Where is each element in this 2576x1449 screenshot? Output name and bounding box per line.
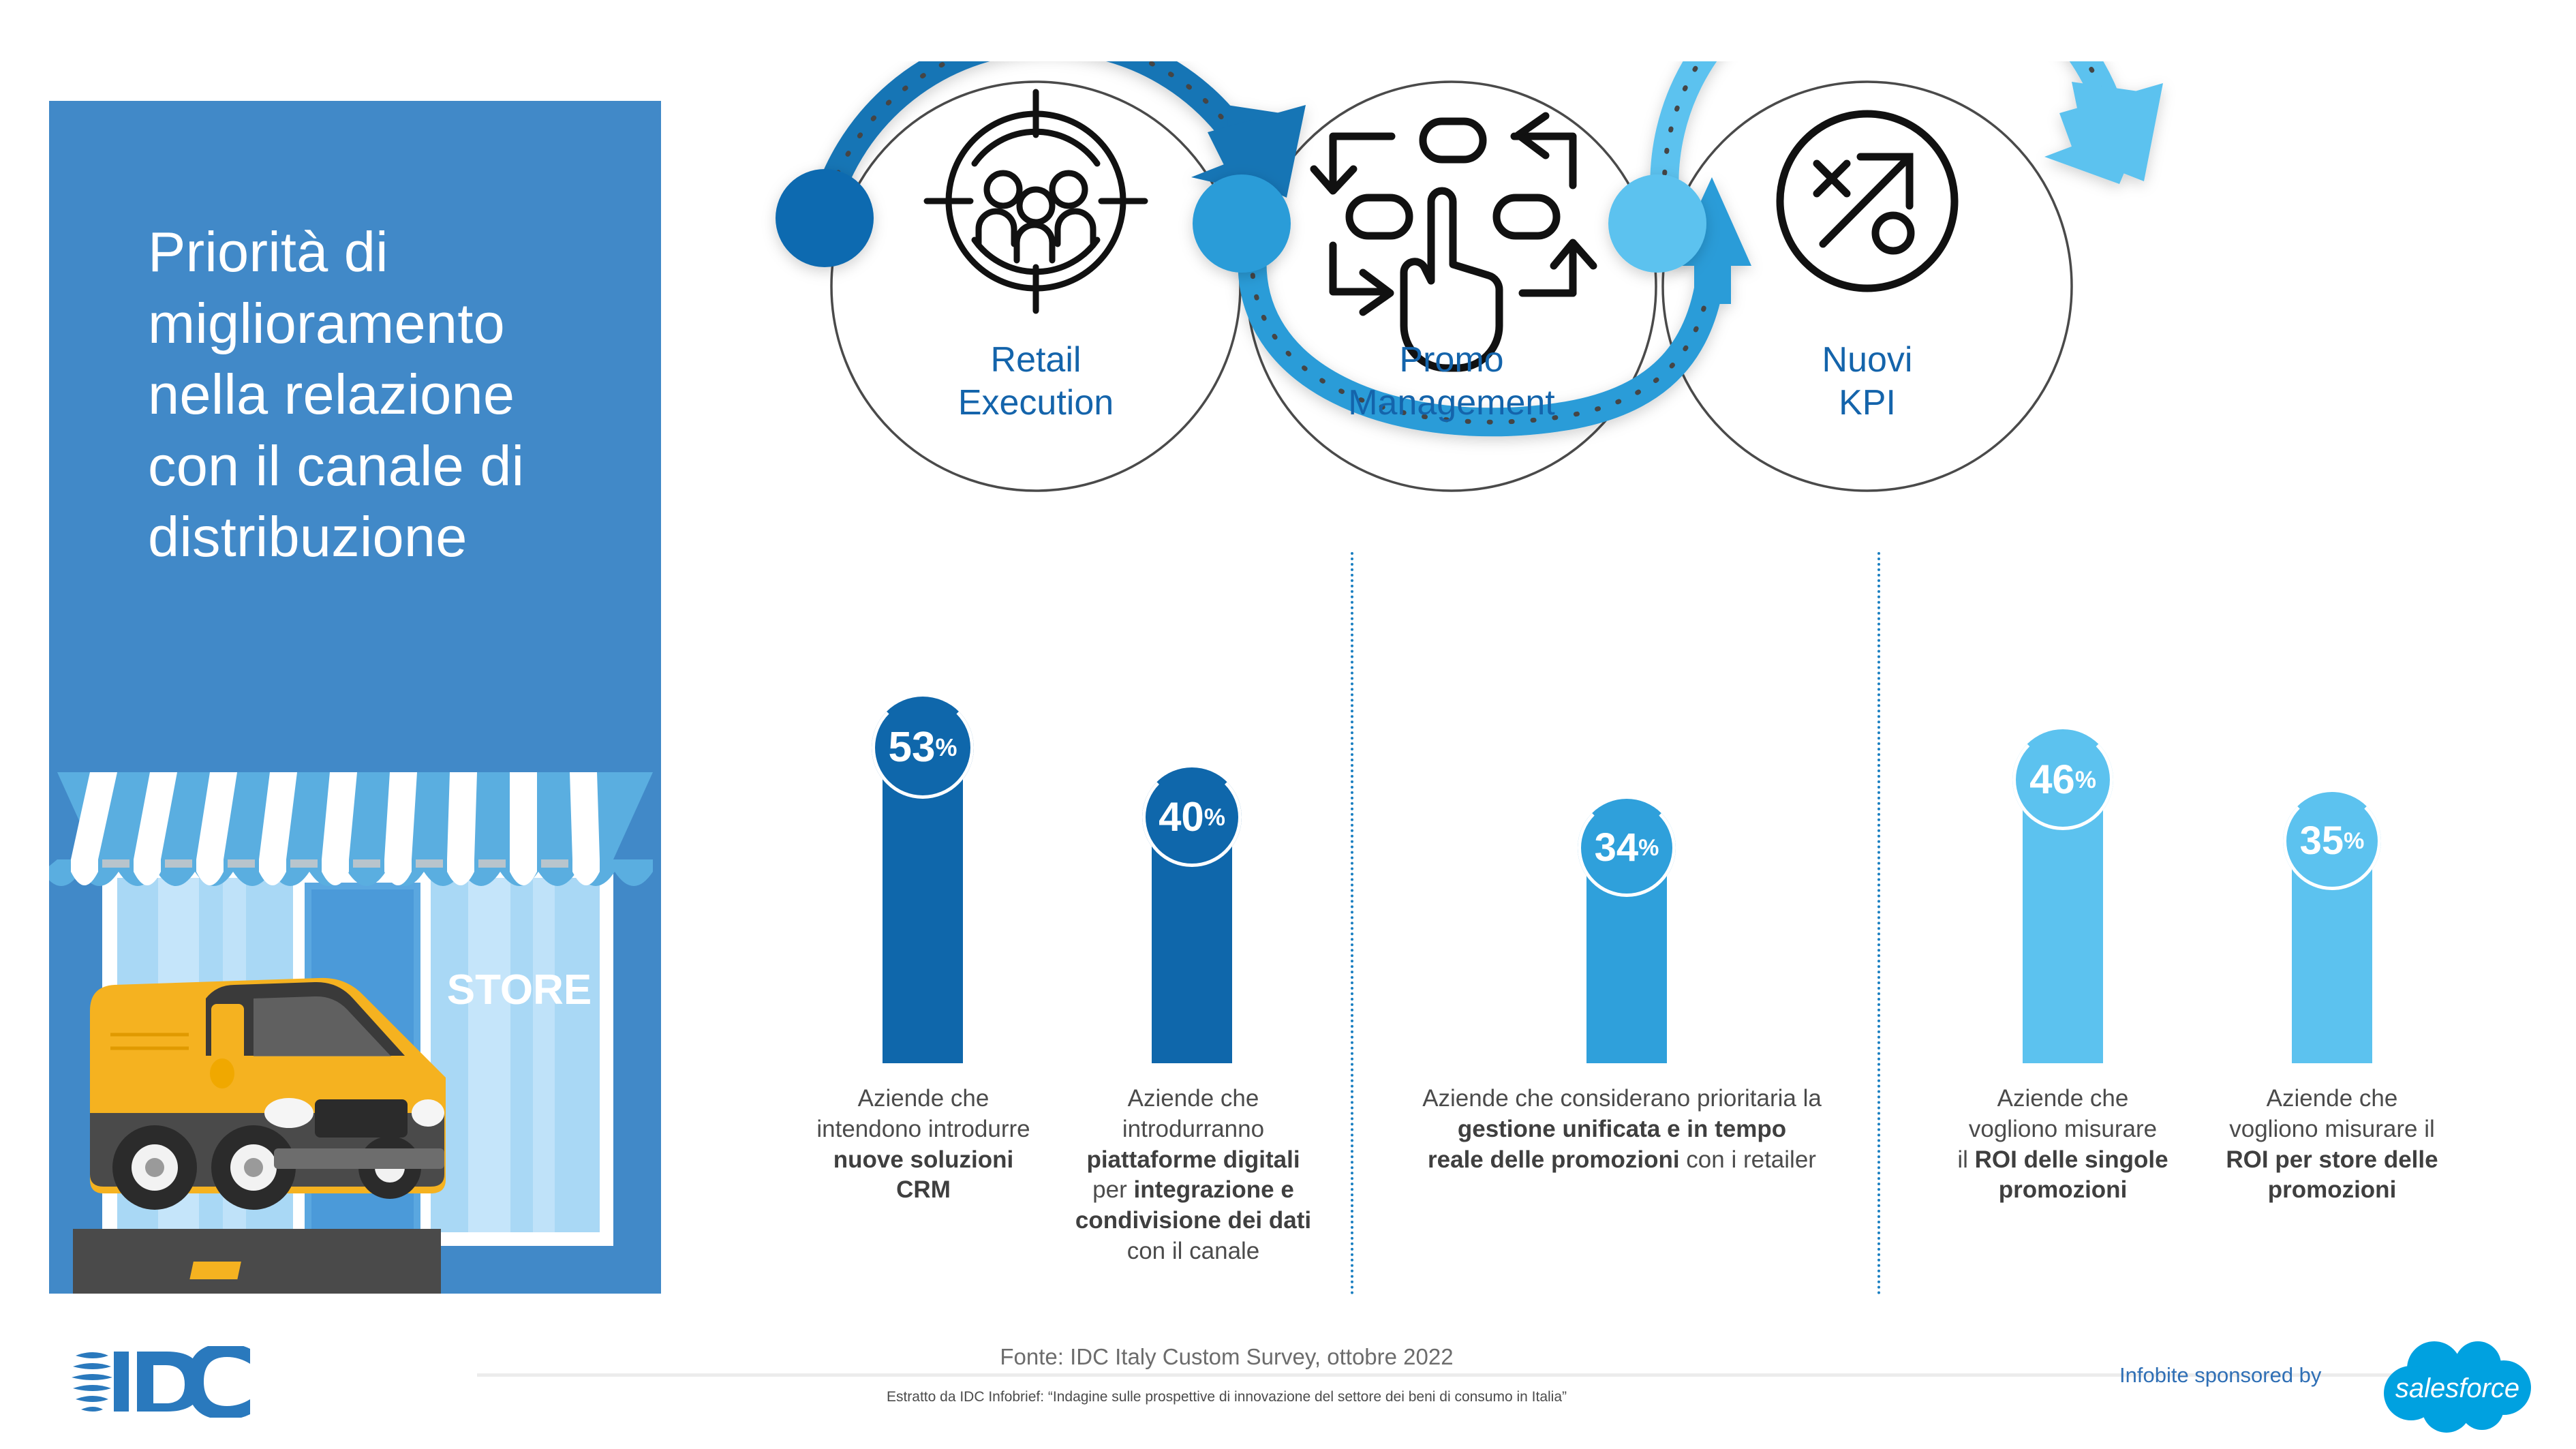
bar-pct-1: % <box>935 735 957 760</box>
bar-bubble-2: 40 % <box>1142 767 1242 867</box>
bar-pct-5: % <box>2344 829 2364 853</box>
bar-caption-4: Aziende che vogliono misurare il ROI del… <box>1923 1084 2203 1206</box>
source-note: Fonte: IDC Italy Custom Survey, ottobre … <box>750 1344 1704 1370</box>
cycle-label-3-line1: Nuovi <box>1822 340 1913 380</box>
percent-growth-icon <box>1780 114 1954 288</box>
page-title-line: nella relazione <box>148 359 625 431</box>
bar-pct-2: % <box>1204 806 1225 829</box>
node-dot-2 <box>1193 174 1291 273</box>
bar-value-1: 53 <box>889 727 936 769</box>
bar-caption-1: Aziende che intendono introdurre nuove s… <box>784 1084 1063 1206</box>
section-divider-left <box>1351 552 1353 1295</box>
bar-value-3: 34 <box>1595 828 1639 868</box>
page-title: Priorità dimiglioramentonella relazionec… <box>148 217 625 573</box>
bar-value-2: 40 <box>1159 797 1204 838</box>
idc-logo <box>72 1346 256 1418</box>
cycle-diagram: Retail Execution Promo Management Nuovi … <box>750 61 2562 661</box>
cycle-label-1-line2: Execution <box>958 383 1114 423</box>
arrow-arc-3 <box>1664 61 2163 217</box>
cycle-hand-icon <box>1314 116 1593 368</box>
page-title-line: distribuzione <box>148 502 625 573</box>
cycle-label-2-line1: Promo <box>1399 340 1503 380</box>
store-sign-text: STORE <box>447 966 592 1013</box>
node-dot-1 <box>776 169 874 267</box>
sponsor-label: Infobite sponsored by <box>2119 1363 2321 1388</box>
bar-value-5: 35 <box>2300 821 2344 861</box>
store-illustration: STORE <box>49 690 661 1294</box>
bar-bubble-1: 53 % <box>872 697 974 799</box>
bar-caption-3: Aziende che considerano prioritaria la g… <box>1370 1084 1874 1175</box>
title-panel: Priorità dimiglioramentonella relazionec… <box>49 101 661 1294</box>
bar-pct-4: % <box>2075 768 2096 792</box>
section-divider-right <box>1877 552 1880 1295</box>
page-title-line: miglioramento <box>148 288 625 360</box>
target-people-icon <box>927 92 1145 311</box>
page-title-line: con il canale di <box>148 431 625 502</box>
node-dot-3 <box>1608 174 1706 273</box>
extract-note: Estratto da IDC Infobrief: “Indagine sul… <box>613 1389 1840 1405</box>
bar-bubble-3: 34 % <box>1578 799 1676 897</box>
bar-caption-5: Aziende che vogliono misurare il ROI per… <box>2189 1084 2475 1206</box>
bar-pct-3: % <box>1638 836 1659 859</box>
page-title-line: Priorità di <box>148 217 625 288</box>
salesforce-wordmark: salesforce <box>2395 1373 2519 1403</box>
bar-caption-2: Aziende che introdurranno piattaforme di… <box>1053 1084 1334 1267</box>
awning <box>49 772 653 886</box>
bar-bubble-5: 35 % <box>2283 792 2381 890</box>
cycle-label-3-line2: KPI <box>1839 383 1896 423</box>
infographic-root: Priorità dimiglioramentonella relazionec… <box>0 0 2576 1449</box>
bar-bubble-4: 46 % <box>2012 729 2113 830</box>
salesforce-logo: salesforce <box>2358 1337 2549 1439</box>
cycle-label-1-line1: Retail <box>991 340 1082 380</box>
cycle-label-2-line2: Management <box>1348 383 1555 423</box>
bar-value-4: 46 <box>2029 759 2075 800</box>
